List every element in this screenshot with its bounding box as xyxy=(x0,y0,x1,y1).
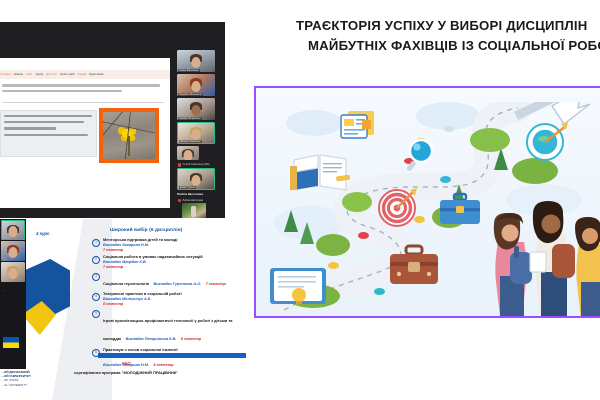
nav-link[interactable]: Вразливим xyxy=(89,73,103,76)
discipline-title: Соціальна геронтологія xyxy=(103,281,149,286)
discipline-item[interactable]: 1 Менторська підтримка дітей та молоді В… xyxy=(92,238,250,252)
slide-canvas: Головна Новини Сайт Наука Доступи Архів … xyxy=(0,0,600,400)
discipline-teacher: Викладач Гуренкова А.О. xyxy=(154,282,202,286)
discipline-number: 4 xyxy=(92,293,100,301)
clipboard-icon xyxy=(338,108,378,140)
discipline-semester: 8 семестр xyxy=(103,302,250,307)
discipline-item[interactable]: 4 Театральні практики в соціальній робот… xyxy=(92,292,250,306)
path-marker xyxy=(358,232,369,239)
participant-tile[interactable] xyxy=(1,262,25,282)
path-marker xyxy=(444,126,454,132)
active-speaker-name: Любов Щоголєва xyxy=(183,199,203,202)
document-body-text xyxy=(2,84,162,95)
discipline-number: 5 xyxy=(92,310,100,318)
career-path-illustration xyxy=(254,86,600,318)
document-divider xyxy=(2,102,164,103)
bush-shape xyxy=(316,234,350,256)
shared-screen-document: Головна Новини Сайт Наука Доступи Архів … xyxy=(0,58,170,208)
discipline-semester: 7 семестр xyxy=(206,282,226,286)
microphone-muted-icon xyxy=(178,163,181,167)
nav-link[interactable]: Архів подій xyxy=(60,73,75,76)
slide-certificate-program: сертифікатна програма "МОЛОДІЖНИЙ ПРАЦІВ… xyxy=(0,370,252,375)
slide-heading: Широкий вибір (6 дисциплін) xyxy=(110,228,182,233)
document-photo-frame xyxy=(99,108,159,163)
participant-tile[interactable]: Наталія Тарасенко xyxy=(177,122,215,144)
discipline-semester: 7 семестр xyxy=(103,248,250,253)
path-marker xyxy=(440,176,451,183)
title-line-1: ТРАЄКТОРІЯ УСПІХУ У ВИБОРІ ДИСЦИПЛІН xyxy=(296,16,600,36)
flower-stem xyxy=(128,136,130,156)
active-speaker-label: Любов Щоголєва xyxy=(177,192,219,196)
brown-briefcase-icon xyxy=(388,244,440,286)
participant-tile[interactable]: Людмила Мельничук xyxy=(177,74,215,96)
participant-name: Людмила Мельничук xyxy=(178,93,203,96)
discipline-item[interactable]: 6 Практикум з основ соціальної інклюзії … xyxy=(92,348,250,371)
discipline-item[interactable]: 5 Ігрові просвітницько-профілактичні тех… xyxy=(92,309,250,345)
discipline-item[interactable]: 3 Соціальна геронтологія Викладач Гуренк… xyxy=(92,272,250,290)
target-icon xyxy=(376,186,418,228)
nav-link[interactable]: Новини xyxy=(14,73,24,76)
participant-name: Сергій Коваленко (Він) xyxy=(183,163,210,166)
bush-shape xyxy=(342,192,372,212)
discipline-teacher: Викладач Петровська К.В. xyxy=(126,337,177,341)
nav-link[interactable]: Сайт xyxy=(26,73,32,76)
active-speaker-mic-row: Любов Щоголєва xyxy=(178,199,219,203)
participant-name: Олена Василенко xyxy=(178,69,200,72)
participant-tile[interactable] xyxy=(1,241,25,261)
participant-tile-small[interactable] xyxy=(177,146,199,160)
discipline-semester: 8 семестр xyxy=(181,337,201,341)
magnifier-icon xyxy=(406,138,436,172)
title-line-2: МАЙБУТНІХ ФАХІВЦІВ ІЗ СОЦІАЛЬНОЇ РОБО xyxy=(308,36,600,56)
participant-tile[interactable] xyxy=(1,220,25,240)
participant-name: … xyxy=(2,284,26,287)
document-nav-bar[interactable]: Головна Новини Сайт Наука Доступи Архів … xyxy=(0,70,170,79)
participant-name: … xyxy=(2,289,26,292)
discipline-number: 2 xyxy=(92,256,100,264)
participant-tile[interactable]: Олена Василенко xyxy=(177,50,215,72)
target-globe-icon xyxy=(524,120,568,162)
blue-briefcase-icon xyxy=(438,192,482,226)
discipline-item[interactable]: 2 Соціальна робота в умовах надзвичайних… xyxy=(92,255,250,269)
nav-link[interactable]: Доступи xyxy=(46,73,57,76)
discipline-number: 1 xyxy=(92,239,100,247)
open-book-icon xyxy=(290,150,352,192)
document-callout-box xyxy=(0,110,97,157)
nav-link[interactable]: Наука xyxy=(36,73,44,76)
slide-or-label: АБО xyxy=(0,361,252,366)
participant-name: Наталія Тарасенко xyxy=(179,140,202,143)
slide-year-label: 4 курс xyxy=(36,231,50,236)
participant-strip[interactable]: Олена Василенко Людмила Мельничук Оксана… xyxy=(177,50,219,214)
nav-link[interactable]: Головна xyxy=(0,73,11,76)
participant-mic-row: Сергій Коваленко (Він) xyxy=(178,163,219,167)
video-meeting-window: Головна Новини Сайт Наука Доступи Архів … xyxy=(0,22,225,218)
notebook-lightbulb-icon xyxy=(268,264,330,308)
university-name-en: …AL UNIVERSITY xyxy=(1,383,59,387)
discipline-number: 3 xyxy=(92,273,100,281)
flowers-photo xyxy=(103,112,155,159)
slide-accent-bar xyxy=(98,353,246,358)
student-figure xyxy=(570,216,600,318)
participant-name: Оксана Петровська xyxy=(178,117,202,120)
participant-thumbnail[interactable] xyxy=(182,203,206,218)
participant-name: Ірина Гуренко xyxy=(179,186,196,189)
active-speaker-tile[interactable]: Ірина Гуренко xyxy=(177,168,215,190)
pine-tree xyxy=(284,210,298,232)
microphone-muted-icon xyxy=(178,199,181,203)
discipline-semester: 7 семестр xyxy=(103,265,250,270)
slide-video-strip[interactable]: … … xyxy=(0,219,26,369)
page-title: ТРАЄКТОРІЯ УСПІХУ У ВИБОРІ ДИСЦИПЛІН МАЙ… xyxy=(296,16,600,57)
ukraine-flag-icon xyxy=(3,337,19,348)
bush-shape xyxy=(470,128,510,152)
path-marker xyxy=(374,288,385,295)
pine-tree xyxy=(300,222,314,244)
participant-tile[interactable]: Оксана Петровська xyxy=(177,98,215,120)
nav-link[interactable]: Людям xyxy=(77,73,86,76)
